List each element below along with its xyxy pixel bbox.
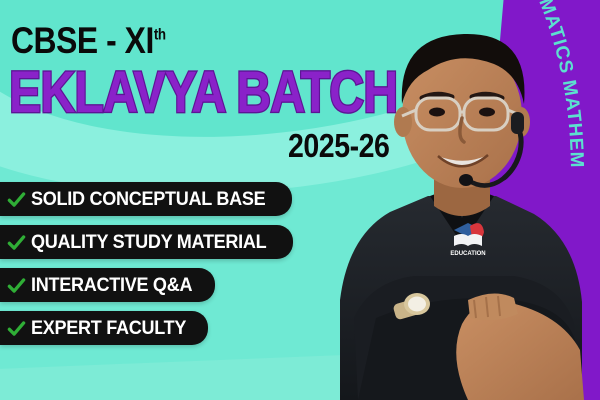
course-heading-text: CBSE - XI (11, 20, 154, 61)
feature-label: SOLID CONCEPTUAL BASE (31, 190, 265, 209)
batch-title: EKLAVYA BATCH (9, 64, 397, 122)
check-icon (7, 233, 26, 252)
list-item: SOLID CONCEPTUAL BASE (0, 182, 292, 216)
feature-label: QUALITY STUDY MATERIAL (31, 233, 266, 252)
list-item: QUALITY STUDY MATERIAL (0, 225, 293, 259)
course-heading: CBSE - XIth (11, 22, 166, 59)
list-item: EXPERT FACULTY (0, 311, 208, 345)
check-icon (7, 190, 26, 209)
instructor-hand (468, 293, 518, 320)
feature-label: INTERACTIVE Q&A (31, 276, 192, 295)
check-icon (7, 276, 26, 295)
eye-right (479, 108, 495, 117)
feature-label: EXPERT FACULTY (31, 319, 186, 338)
feature-list: SOLID CONCEPTUAL BASE QUALITY STUDY MATE… (0, 182, 360, 354)
eye-left (429, 108, 445, 117)
shirt-logo-text: EDUCATION (450, 251, 485, 257)
course-heading-superscript: th (154, 27, 166, 44)
course-promo-poster: MATHEMATICS MATHEM JIO (0, 0, 600, 400)
list-item: INTERACTIVE Q&A (0, 268, 215, 302)
check-icon (7, 319, 26, 338)
academic-year-label: 2025-26 (288, 129, 389, 162)
